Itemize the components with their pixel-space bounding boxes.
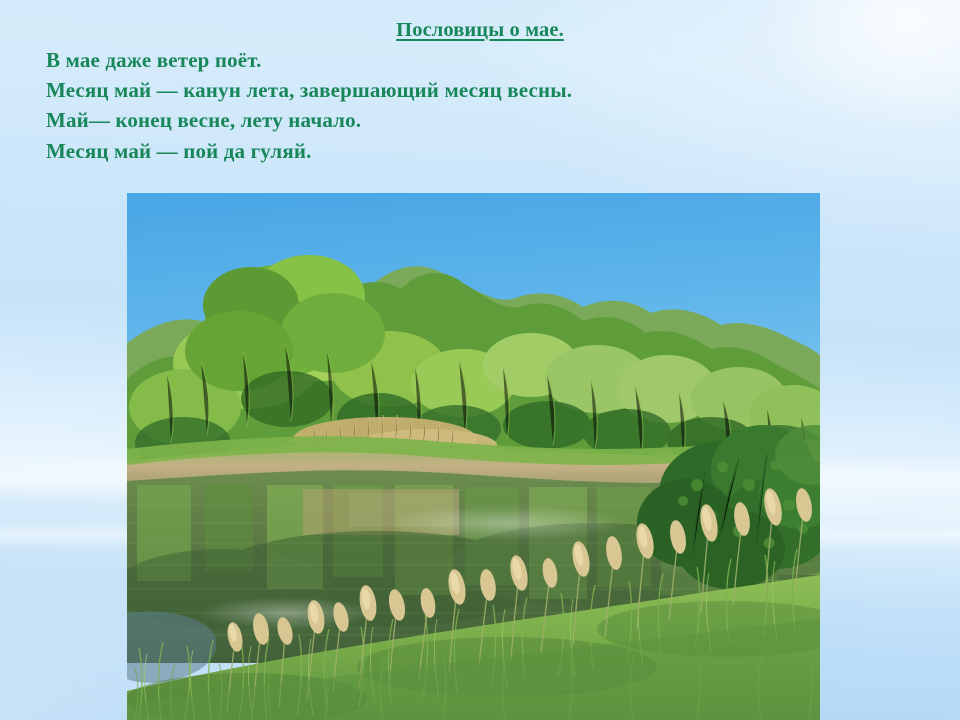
proverb-line-2: Месяц май — канун лета, завершающий меся…: [46, 78, 572, 103]
slide-title: Пословицы о мае.: [0, 19, 960, 42]
presentation-slide: Пословицы о мае. В мае даже ветер поёт. …: [0, 0, 960, 720]
proverb-line-4: Месяц май — пой да гуляй.: [46, 139, 312, 164]
slide-title-text: Пословицы о мае.: [396, 19, 564, 41]
landscape-photo-image: [127, 193, 820, 720]
proverb-line-1: В мае даже ветер поёт.: [46, 48, 262, 73]
landscape-photo: [127, 193, 820, 720]
proverb-line-3: Май— конец весне, лету начало.: [46, 108, 361, 133]
